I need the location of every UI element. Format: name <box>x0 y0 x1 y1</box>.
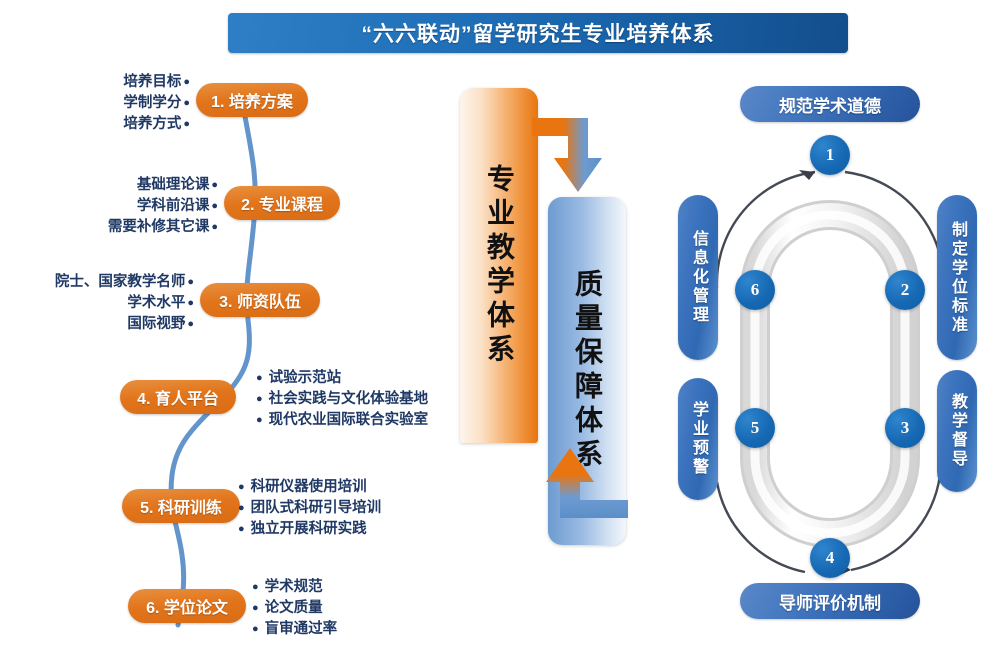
flow-step-3[interactable]: 3. 师资队伍 <box>200 283 320 317</box>
flow-step-6[interactable]: 6. 学位论文 <box>128 589 246 623</box>
cycle-node-2[interactable]: 2 <box>885 270 925 310</box>
bullet-item: 国际视野 <box>0 314 194 335</box>
cycle-node-4[interactable]: 4 <box>810 538 850 578</box>
cycle-label-6-text: 信息化管理 <box>686 230 710 325</box>
bullet-item: 现代农业国际联合实验室 <box>256 410 428 431</box>
arrow-orange-to-blue <box>532 118 602 192</box>
flow-step-1-label: 1. 培养方案 <box>211 88 293 112</box>
flow-step-5-label: 5. 科研训练 <box>140 494 222 518</box>
cycle-node-2-number: 2 <box>901 280 910 300</box>
flow-step-5-bullets: 科研仪器使用培训 团队式科研引导培训 独立开展科研实践 <box>238 477 381 540</box>
cycle-node-1-number: 1 <box>826 145 835 165</box>
cycle-label-2[interactable]: 制定学位标准 <box>937 195 977 360</box>
cycle-track-ring <box>755 215 905 533</box>
bullet-item: 试验示范站 <box>256 368 428 389</box>
bullet-item: 基础理论课 <box>0 175 218 196</box>
cycle-node-5[interactable]: 5 <box>735 408 775 448</box>
flow-step-2[interactable]: 2. 专业课程 <box>224 186 340 220</box>
cycle-label-4-text: 导师评价机制 <box>779 589 881 614</box>
flow-step-2-label: 2. 专业课程 <box>241 191 323 215</box>
bullet-item: 盲审通过率 <box>252 619 337 640</box>
cycle-label-5-text: 学业预警 <box>686 401 710 477</box>
flow-step-4-label: 4. 育人平台 <box>137 385 219 409</box>
flow-snake-line <box>0 55 430 641</box>
cycle-node-6-number: 6 <box>751 280 760 300</box>
bullet-item: 培养目标 <box>0 72 190 93</box>
flow-step-5[interactable]: 5. 科研训练 <box>122 489 240 523</box>
panel-teaching-system-label: 专业教学体系 <box>479 164 519 368</box>
cycle-label-6[interactable]: 信息化管理 <box>678 195 718 360</box>
diagram-canvas: “六六联动”留学研究生专业培养体系 1. 培养方案 培养目标 学制学分 培养方式… <box>0 0 1000 641</box>
cycle-section: 1 2 3 4 5 6 规范学术道德 制定学位标准 教学督导 导师评价机制 <box>655 60 1000 641</box>
diagram-title-text: “六六联动”留学研究生专业培养体系 <box>362 18 715 48</box>
cycle-label-2-text: 制定学位标准 <box>945 221 969 335</box>
bullet-item: 论文质量 <box>252 598 337 619</box>
center-arrows <box>520 110 640 570</box>
bullet-item: 学制学分 <box>0 93 190 114</box>
cycle-label-4[interactable]: 导师评价机制 <box>740 583 920 619</box>
flow-step-1-bullets: 培养目标 学制学分 培养方式 <box>0 72 190 135</box>
bullet-item: 培养方式 <box>0 114 190 135</box>
arrow-blue-to-orange <box>546 448 628 518</box>
flow-step-2-bullets: 基础理论课 学科前沿课 需要补修其它课 <box>0 175 218 238</box>
cycle-label-3-text: 教学督导 <box>945 393 969 469</box>
bullet-item: 团队式科研引导培训 <box>238 498 381 519</box>
flow-step-3-label: 3. 师资队伍 <box>219 288 301 312</box>
left-flow-section: 1. 培养方案 培养目标 学制学分 培养方式 2. 专业课程 基础理论课 学科前… <box>0 55 430 641</box>
bullet-item: 学术水平 <box>0 293 194 314</box>
bullet-item: 学科前沿课 <box>0 196 218 217</box>
bullet-item: 学术规范 <box>252 577 337 598</box>
flow-step-6-bullets: 学术规范 论文质量 盲审通过率 <box>252 577 337 640</box>
cycle-node-6[interactable]: 6 <box>735 270 775 310</box>
bullet-item: 院士、国家教学名师 <box>0 272 194 293</box>
flow-step-4[interactable]: 4. 育人平台 <box>120 380 236 414</box>
flow-step-6-label: 6. 学位论文 <box>146 594 228 618</box>
bullet-item: 需要补修其它课 <box>0 217 218 238</box>
cycle-node-3[interactable]: 3 <box>885 408 925 448</box>
cycle-label-1[interactable]: 规范学术道德 <box>740 86 920 122</box>
cycle-label-1-text: 规范学术道德 <box>779 92 881 117</box>
cycle-node-1[interactable]: 1 <box>810 135 850 175</box>
cycle-node-5-number: 5 <box>751 418 760 438</box>
flow-step-3-bullets: 院士、国家教学名师 学术水平 国际视野 <box>0 272 194 335</box>
cycle-node-3-number: 3 <box>901 418 910 438</box>
bullet-item: 科研仪器使用培训 <box>238 477 381 498</box>
cycle-node-4-number: 4 <box>826 548 835 568</box>
flow-step-1[interactable]: 1. 培养方案 <box>196 83 308 117</box>
flow-step-4-bullets: 试验示范站 社会实践与文化体验基地 现代农业国际联合实验室 <box>256 368 428 431</box>
bullet-item: 独立开展科研实践 <box>238 519 381 540</box>
diagram-title-bar: “六六联动”留学研究生专业培养体系 <box>228 13 848 53</box>
cycle-label-3[interactable]: 教学督导 <box>937 370 977 492</box>
bullet-item: 社会实践与文化体验基地 <box>256 389 428 410</box>
cycle-label-5[interactable]: 学业预警 <box>678 378 718 500</box>
